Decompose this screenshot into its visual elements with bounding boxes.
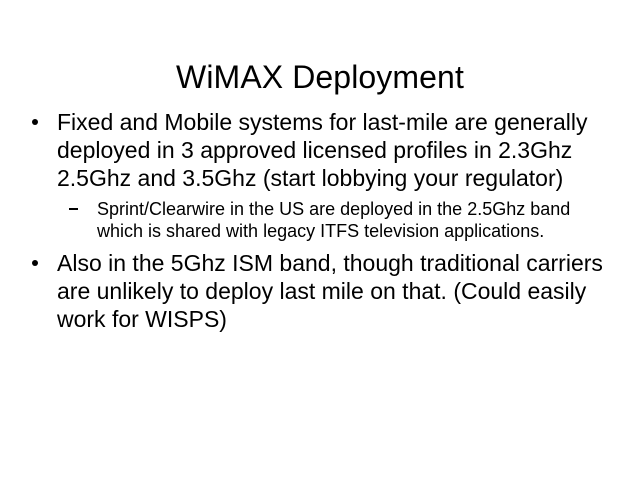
- bullet-text: Fixed and Mobile systems for last-mile a…: [57, 108, 620, 192]
- list-item: Fixed and Mobile systems for last-mile a…: [28, 108, 620, 242]
- list-item: Sprint/Clearwire in the US are deployed …: [69, 198, 617, 242]
- page-title: WiMAX Deployment: [0, 57, 640, 97]
- bullet-dot-icon: [32, 260, 38, 266]
- presentation-slide: WiMAX Deployment Fixed and Mobile system…: [0, 0, 640, 480]
- slide-body: Fixed and Mobile systems for last-mile a…: [28, 108, 620, 333]
- bullet-list-level1: Fixed and Mobile systems for last-mile a…: [28, 108, 620, 333]
- list-item: Also in the 5Ghz ISM band, though tradit…: [28, 249, 620, 333]
- bullet-dot-icon: [32, 119, 38, 125]
- bullet-list-level2: Sprint/Clearwire in the US are deployed …: [57, 198, 620, 242]
- sub-bullet-text: Sprint/Clearwire in the US are deployed …: [97, 198, 617, 242]
- bullet-text: Also in the 5Ghz ISM band, though tradit…: [57, 249, 620, 333]
- bullet-dash-icon: [69, 208, 78, 210]
